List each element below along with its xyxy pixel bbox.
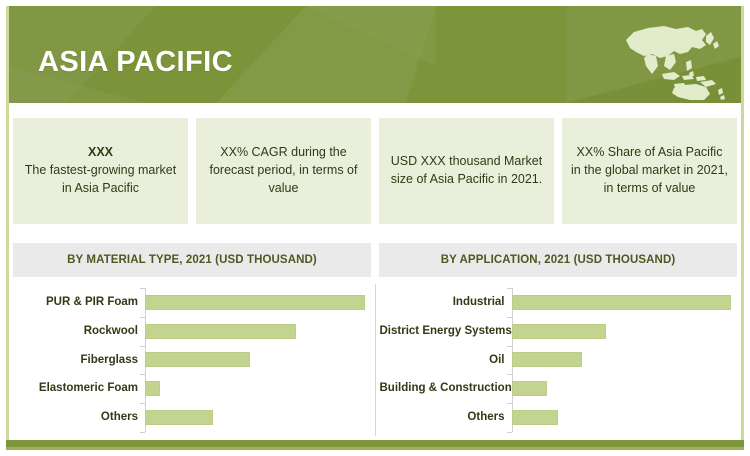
bar-track <box>145 317 365 346</box>
bar-value <box>512 295 732 310</box>
axis-tick <box>507 374 512 375</box>
bar-track <box>145 288 365 317</box>
bar-category-label: Industrial <box>380 296 512 309</box>
axis-tick <box>140 374 145 375</box>
bar-row: Others <box>380 403 732 432</box>
bar-category-label: Fiberglass <box>13 354 145 367</box>
bar-value <box>145 352 250 367</box>
kpi-description: The fastest-growing market in Asia Pacif… <box>21 162 180 198</box>
section-header-material-type: BY MATERIAL TYPE, 2021 (USD THOUSAND) <box>13 243 371 277</box>
bar-row: Building & Construction <box>380 374 732 403</box>
bar-value <box>145 295 365 310</box>
frame-bottom-bar <box>6 440 744 447</box>
kpi-card-cagr: XX% CAGR during the forecast period, in … <box>196 118 371 224</box>
bar-category-label: Building & Construction <box>380 382 512 395</box>
kpi-value: XXX <box>88 144 113 162</box>
kpi-description: XX% Share of Asia Pacific in the global … <box>570 144 729 197</box>
axis-tick <box>140 346 145 347</box>
axis-tick <box>140 432 145 433</box>
chart-plot-area: Industrial District Energy Systems Oil <box>380 288 732 432</box>
bar-row: PUR & PIR Foam <box>13 288 365 317</box>
bar-row: District Energy Systems <box>380 317 732 346</box>
bar-track <box>512 317 732 346</box>
kpi-card-fastest-growing: XXX The fastest-growing market in Asia P… <box>13 118 188 224</box>
kpi-description: XX% CAGR during the forecast period, in … <box>204 144 363 197</box>
bar-track <box>145 374 365 403</box>
bar-category-label: Others <box>380 411 512 424</box>
axis-tick <box>507 346 512 347</box>
chart-plot-area: PUR & PIR Foam Rockwool Fiberglass <box>13 288 365 432</box>
chart-application: Industrial District Energy Systems Oil <box>375 284 742 436</box>
bar-category-label: Oil <box>380 354 512 367</box>
bar-category-label: PUR & PIR Foam <box>13 296 145 309</box>
bar-track <box>512 403 732 432</box>
bar-track <box>145 346 365 375</box>
bar-category-label: District Energy Systems <box>380 325 512 338</box>
bar-row: Elastomeric Foam <box>13 374 365 403</box>
bar-row: Rockwool <box>13 317 365 346</box>
section-header-label: BY APPLICATION, 2021 (USD THOUSAND) <box>441 254 676 266</box>
chart-material-type: PUR & PIR Foam Rockwool Fiberglass <box>9 284 375 436</box>
kpi-description: USD XXX thousand Market size of Asia Pac… <box>387 153 546 189</box>
section-header-row: BY MATERIAL TYPE, 2021 (USD THOUSAND) BY… <box>9 238 741 282</box>
bar-row: Others <box>13 403 365 432</box>
section-header-label: BY MATERIAL TYPE, 2021 (USD THOUSAND) <box>67 254 317 266</box>
axis-tick <box>507 317 512 318</box>
bar-row: Industrial <box>380 288 732 317</box>
chart-row: PUR & PIR Foam Rockwool Fiberglass <box>9 284 741 436</box>
axis-tick <box>507 432 512 433</box>
bar-value <box>145 381 160 396</box>
bar-category-label: Rockwool <box>13 325 145 338</box>
frame-bottom-shade <box>6 447 744 450</box>
bar-value <box>512 381 547 396</box>
section-header-application: BY APPLICATION, 2021 (USD THOUSAND) <box>379 243 737 277</box>
axis-tick <box>140 317 145 318</box>
axis-tick <box>140 288 145 289</box>
bar-category-label: Others <box>13 411 145 424</box>
bar-track <box>145 403 365 432</box>
bar-value <box>145 410 213 425</box>
bar-row: Oil <box>380 346 732 375</box>
bar-value <box>145 324 296 339</box>
bar-row: Fiberglass <box>13 346 365 375</box>
bar-value <box>512 324 606 339</box>
axis-tick <box>507 288 512 289</box>
bar-value <box>512 352 582 367</box>
kpi-card-market-size: USD XXX thousand Market size of Asia Pac… <box>379 118 554 224</box>
bar-track <box>512 346 732 375</box>
bar-value <box>512 410 558 425</box>
bar-category-label: Elastomeric Foam <box>13 382 145 395</box>
bar-track <box>512 374 732 403</box>
kpi-card-global-share: XX% Share of Asia Pacific in the global … <box>562 118 737 224</box>
axis-tick <box>507 403 512 404</box>
axis-tick <box>140 403 145 404</box>
kpi-card-row: XXX The fastest-growing market in Asia P… <box>9 112 741 230</box>
bar-track <box>512 288 732 317</box>
infographic-root: ASIA PACIFIC <box>0 0 750 456</box>
